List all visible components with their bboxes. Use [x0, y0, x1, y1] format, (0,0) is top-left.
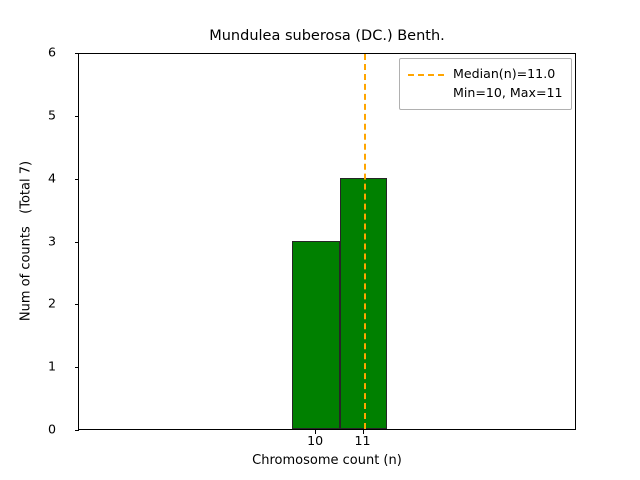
y-tick-mark: [75, 367, 79, 368]
x-axis-label: Chromosome count (n): [78, 453, 576, 468]
y-tick-label: 5: [16, 110, 56, 123]
y-axis-label-gap: [19, 214, 34, 226]
y-tick-label: 1: [16, 361, 56, 374]
legend-entry-minmax: Min=10, Max=11: [408, 84, 563, 103]
x-tick-mark: [315, 430, 316, 434]
y-tick-mark: [75, 116, 79, 117]
plot-area: [79, 54, 575, 429]
x-tick-label: 11: [340, 435, 386, 448]
legend-box: Median(n)=11.0 Min=10, Max=11: [399, 58, 572, 110]
y-axis-label-line2: (Total 7): [19, 161, 34, 214]
y-tick-label: 4: [16, 172, 56, 185]
legend-label-minmax: Min=10, Max=11: [453, 87, 563, 100]
x-tick-label: 10: [292, 435, 338, 448]
bar-10: [292, 241, 339, 430]
x-tick-mark: [363, 430, 364, 434]
median-vline: [364, 54, 366, 429]
y-tick-mark: [75, 53, 79, 54]
figure-canvas: Mundulea suberosa (DC.) Benth. 0123456 1…: [0, 0, 640, 480]
y-tick-label: 2: [16, 298, 56, 311]
dashed-line-icon: [408, 74, 444, 76]
y-tick-label: 0: [16, 424, 56, 437]
y-tick-label: 3: [16, 235, 56, 248]
chart-title: Mundulea suberosa (DC.) Benth.: [78, 28, 576, 44]
y-tick-mark: [75, 304, 79, 305]
legend-label-median: Median(n)=11.0: [453, 68, 555, 81]
legend-entry-median: Median(n)=11.0: [408, 65, 563, 84]
y-tick-mark: [75, 430, 79, 431]
y-tick-mark: [75, 242, 79, 243]
y-tick-mark: [75, 179, 79, 180]
y-tick-label: 6: [16, 47, 56, 60]
